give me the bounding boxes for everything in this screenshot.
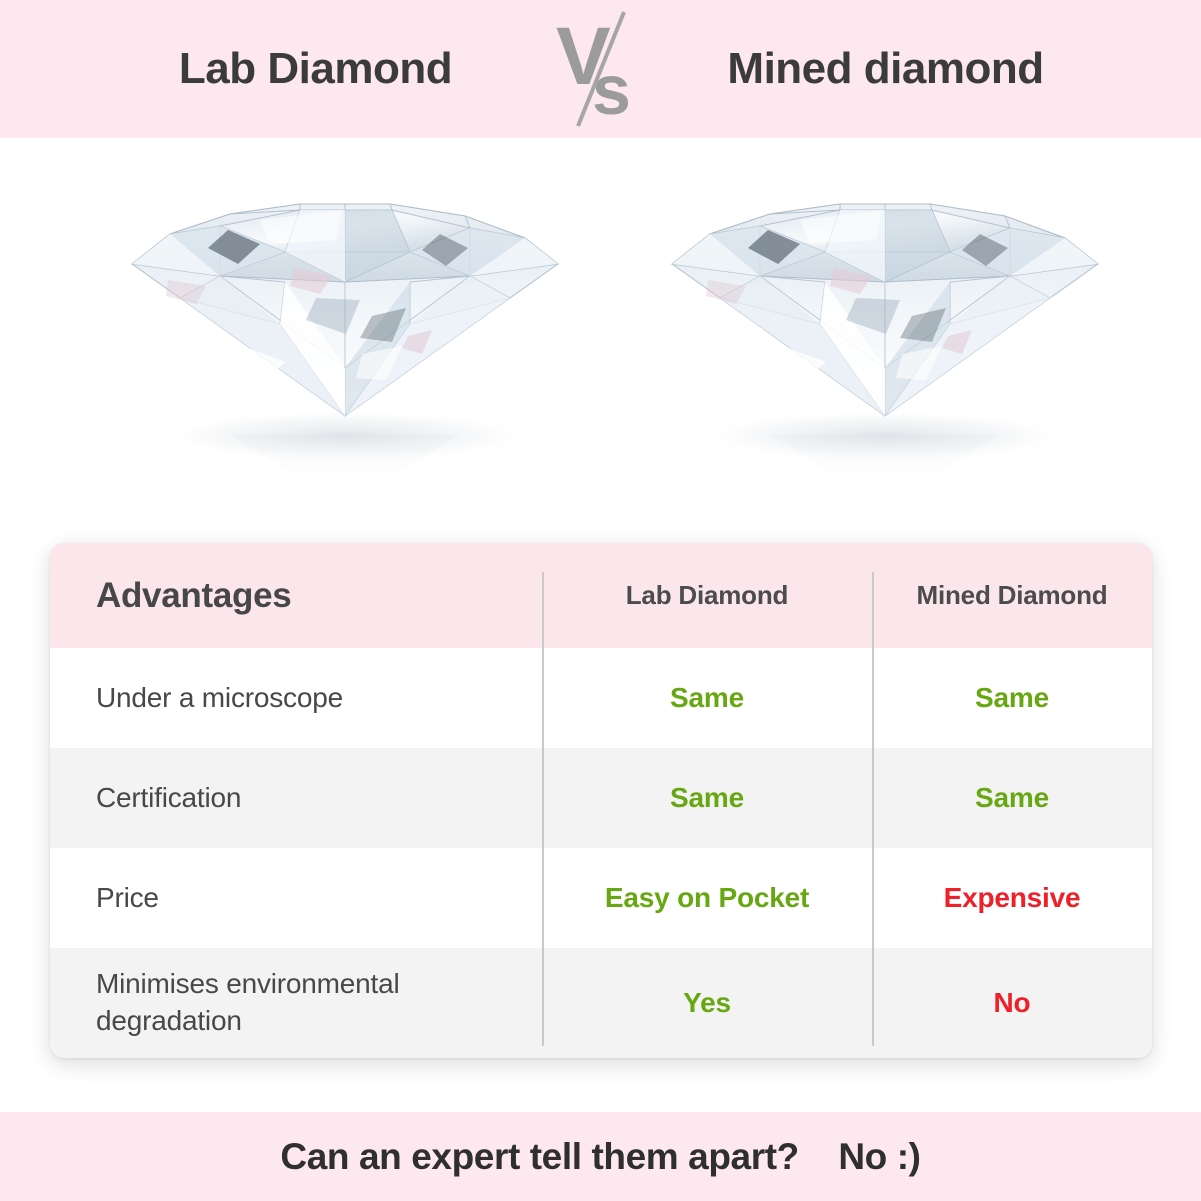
- svg-text:s: s: [592, 51, 631, 129]
- table-row: Certification Same Same: [50, 748, 1152, 848]
- row-lab-cell: Easy on Pocket: [542, 882, 872, 914]
- table-row: Under a microscope Same Same: [50, 648, 1152, 748]
- row-lab-cell: Same: [542, 782, 872, 814]
- row-feature-cell: Minimises environmental degradation: [50, 966, 542, 1040]
- row-mined-cell: Same: [872, 682, 1152, 714]
- row-lab-cell: Yes: [542, 987, 872, 1019]
- mined-diamond-image: [650, 148, 1120, 528]
- header-title-mined-diamond: Mined diamond: [666, 44, 1106, 94]
- bottom-banner-text: Can an expert tell them apart? No :): [280, 1136, 920, 1178]
- lab-diamond-column-label: Lab Diamond: [626, 580, 788, 610]
- row-mined-cell: No: [872, 987, 1152, 1019]
- header-title-lab-diamond: Lab Diamond: [96, 44, 536, 94]
- lab-diamond-image: [110, 148, 580, 528]
- table-header-lab-diamond: Lab Diamond: [542, 580, 872, 611]
- table-row: Minimises environmental degradation Yes …: [50, 948, 1152, 1058]
- column-divider-2: [872, 572, 874, 1046]
- row-mined-cell: Expensive: [872, 882, 1152, 914]
- bottom-banner: Can an expert tell them apart? No :): [0, 1112, 1201, 1201]
- row-mined-cell: Same: [872, 782, 1152, 814]
- row-feature-cell: Under a microscope: [50, 680, 542, 717]
- comparison-table: Advantages Lab Diamond Mined Diamond Und…: [50, 543, 1152, 1058]
- top-header-band: Lab Diamond V s Mined diamond: [0, 0, 1201, 138]
- table-row: Price Easy on Pocket Expensive: [50, 848, 1152, 948]
- row-feature-cell: Certification: [50, 780, 542, 817]
- mined-diamond-column-label: Mined Diamond: [917, 580, 1108, 610]
- diamond-images-area: [0, 138, 1201, 538]
- vs-icon: V s: [536, 4, 666, 134]
- table-header-mined-diamond: Mined Diamond: [872, 580, 1152, 611]
- table-header-advantages: Advantages: [50, 576, 542, 616]
- row-feature-cell: Price: [50, 880, 542, 917]
- column-divider-1: [542, 572, 544, 1046]
- table-header-row: Advantages Lab Diamond Mined Diamond: [50, 543, 1152, 648]
- advantages-label: Advantages: [96, 576, 291, 615]
- row-lab-cell: Same: [542, 682, 872, 714]
